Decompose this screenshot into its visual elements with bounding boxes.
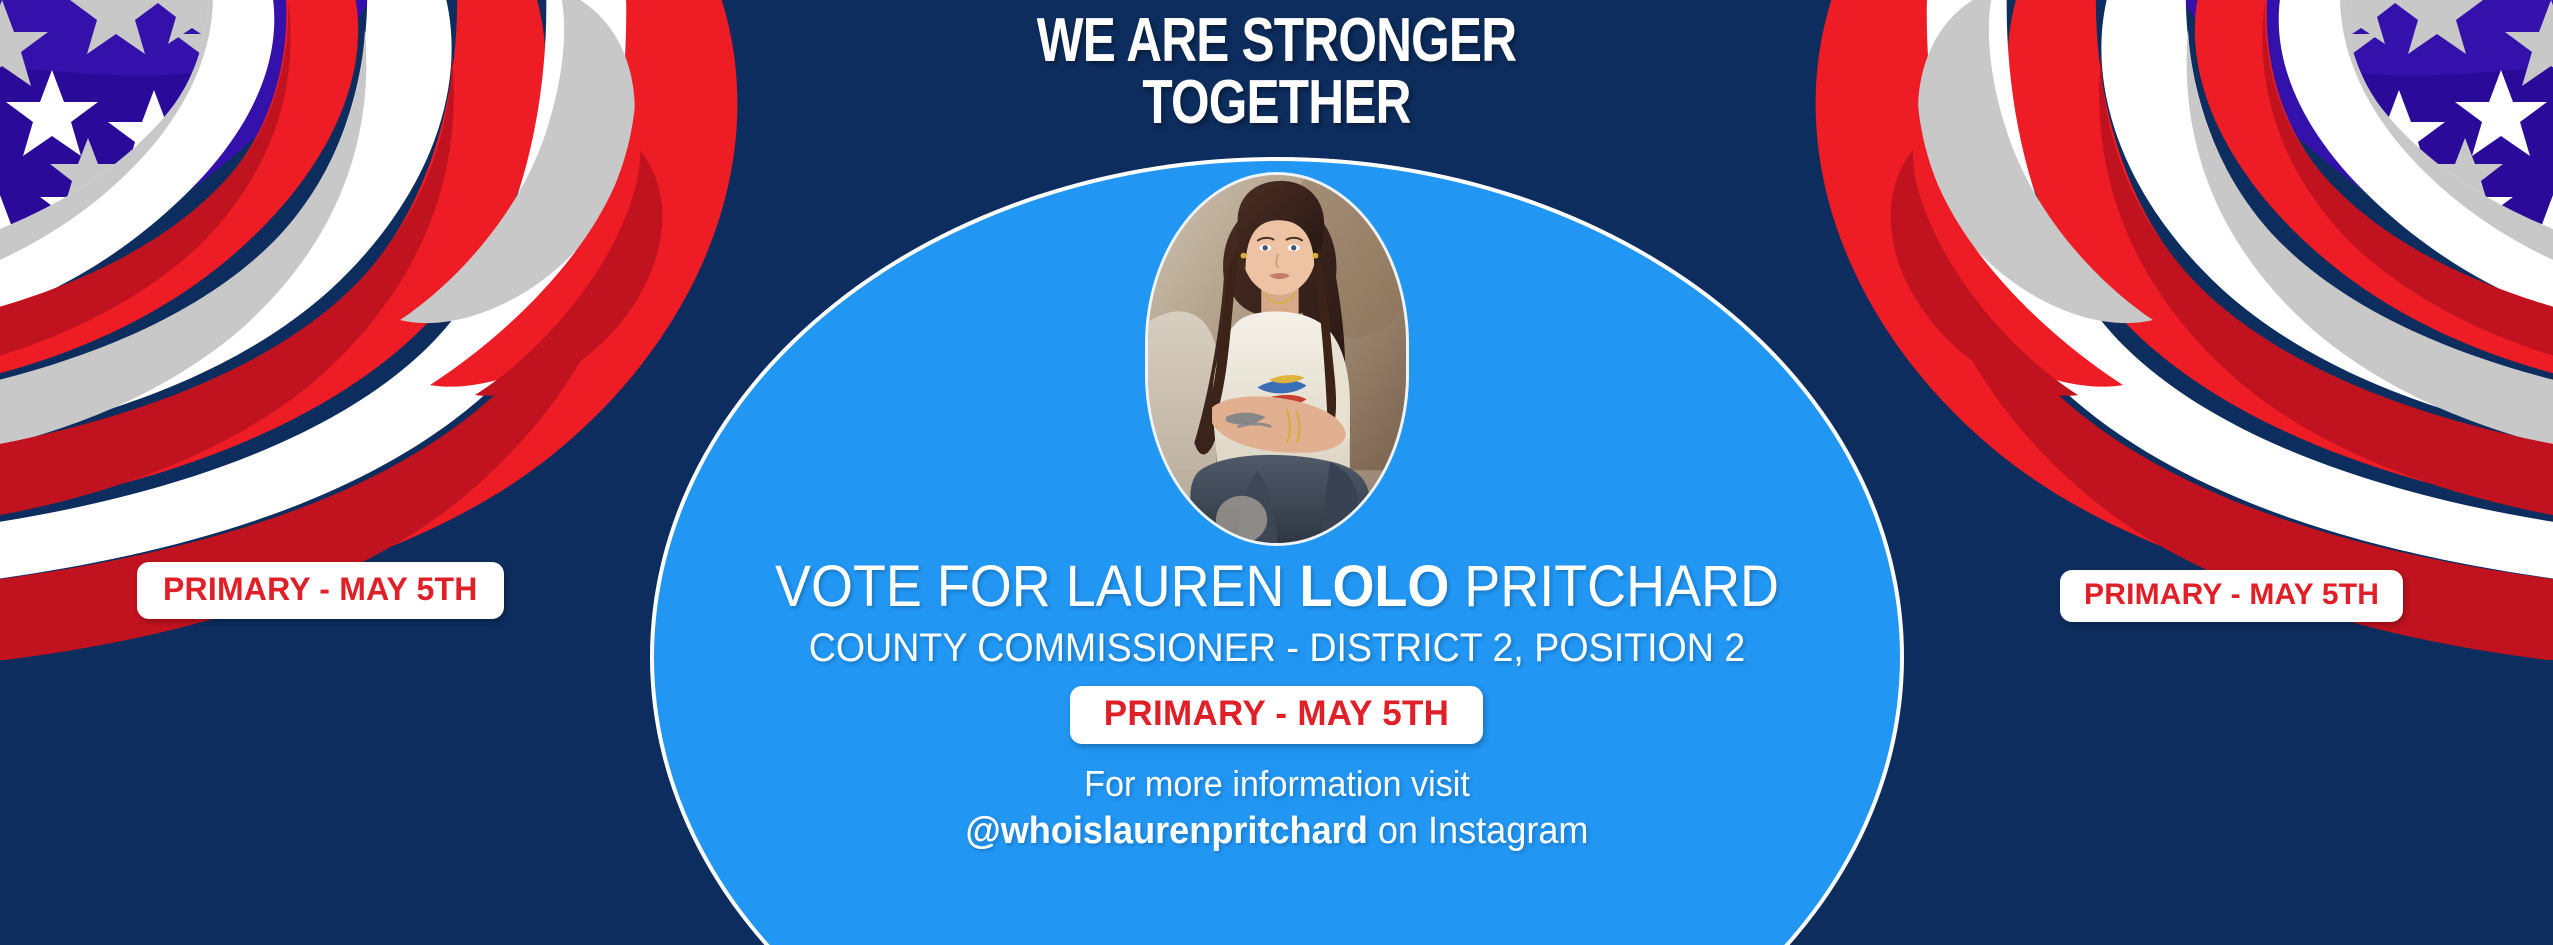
office-line: COUNTY COMMISSIONER - DISTRICT 2, POSITI… [684, 622, 1868, 674]
primary-date-badge-center: PRIMARY - MAY 5TH [1070, 686, 1483, 744]
center-content: VOTE FOR LAUREN LOLO PRITCHARD COUNTY CO… [647, 556, 1907, 854]
primary-date-badge-left: PRIMARY - MAY 5TH [137, 562, 504, 619]
candidate-portrait [1145, 172, 1409, 546]
primary-date-badge-right: PRIMARY - MAY 5TH [2060, 570, 2403, 622]
campaign-banner: WE ARE STRONGER TOGETHER [0, 0, 2553, 945]
instagram-handle[interactable]: @whoislaurenpritchard [965, 810, 1367, 852]
candidate-nickname: LOLO [1299, 554, 1449, 619]
primary-pill-wrap: PRIMARY - MAY 5TH [647, 686, 1907, 744]
page-title: WE ARE STRONGER TOGETHER [255, 10, 2297, 134]
candidate-name-line: VOTE FOR LAUREN LOLO PRITCHARD [691, 556, 1863, 618]
info-line-2: @whoislaurenpritchard on Instagram [678, 808, 1875, 854]
vote-prefix: VOTE FOR LAUREN [775, 554, 1300, 619]
vote-suffix: PRITCHARD [1449, 554, 1779, 619]
instagram-suffix: on Instagram [1367, 810, 1588, 852]
info-line-1: For more information visit [678, 762, 1875, 806]
